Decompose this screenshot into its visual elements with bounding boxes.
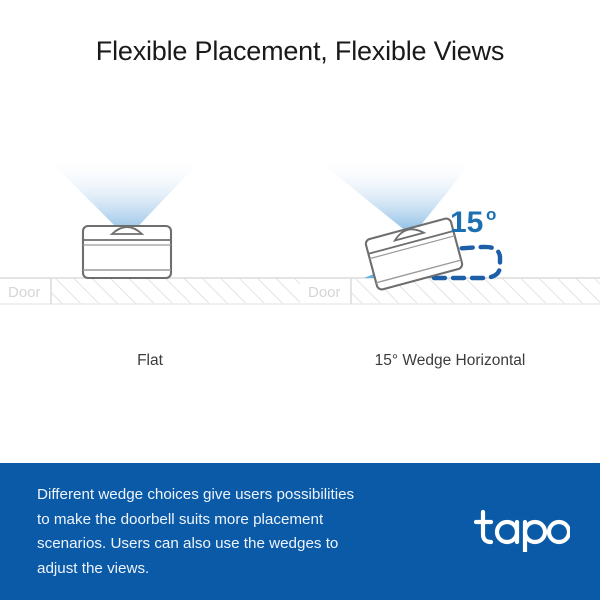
- banner-line: adjust the views.: [37, 557, 437, 582]
- wedge-scene-svg: Door 15 o: [300, 150, 600, 330]
- banner-line: scenarios. Users can also use the wedges…: [37, 532, 437, 557]
- angle-degree-symbol: o: [486, 205, 496, 224]
- ground-strip: [0, 278, 300, 304]
- caption-flat: Flat: [0, 352, 300, 370]
- ground-door-label: Door: [8, 284, 41, 301]
- angle-label: 15 o: [450, 205, 496, 239]
- page-root: Flexible Placement, Flexible Views: [0, 0, 600, 600]
- tapo-logo: [474, 508, 570, 552]
- illustration-flat: Door: [0, 150, 300, 330]
- illustration-wedge: Door 15 o: [300, 150, 600, 330]
- ground-door-label: Door: [308, 284, 341, 301]
- banner-line: to make the doorbell suits more placemen…: [37, 508, 437, 533]
- page-title: Flexible Placement, Flexible Views: [0, 36, 600, 67]
- caption-wedge: 15° Wedge Horizontal: [300, 352, 600, 370]
- banner-description: Different wedge choices give users possi…: [37, 483, 437, 581]
- doorbell-device: [83, 226, 171, 278]
- flat-scene-svg: Door: [0, 150, 300, 330]
- angle-value: 15: [450, 206, 483, 239]
- ground-strip: [300, 278, 600, 304]
- banner-line: Different wedge choices give users possi…: [37, 483, 437, 508]
